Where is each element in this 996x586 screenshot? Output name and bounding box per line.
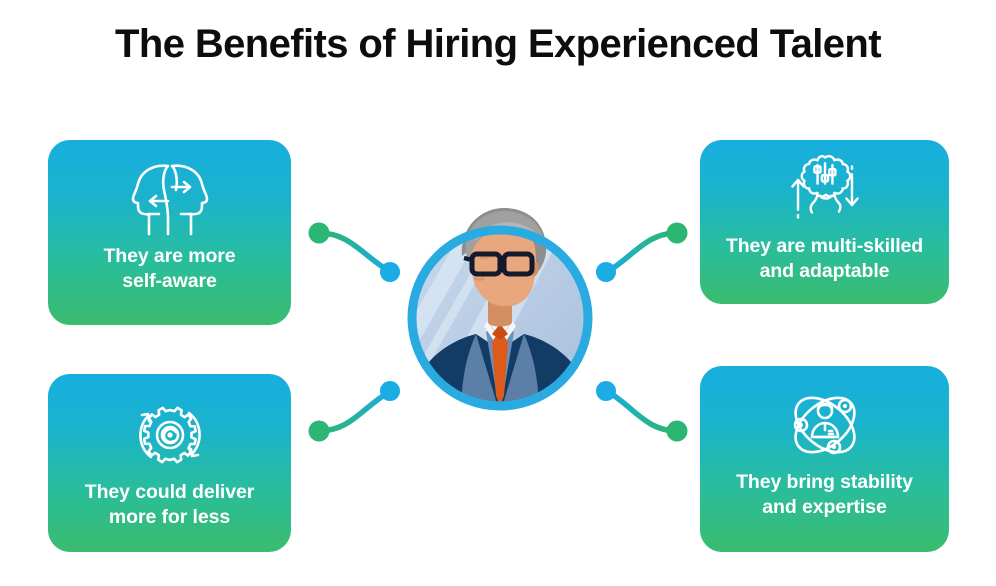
connector-dot-green bbox=[667, 223, 688, 244]
benefit-card-multi-skilled[interactable]: They are multi-skilled and adaptable bbox=[700, 140, 949, 304]
connector-dot-blue bbox=[596, 262, 616, 282]
connector-dot-green bbox=[309, 223, 330, 244]
gear-cycle-arrows-icon bbox=[124, 392, 216, 478]
connector-dot-blue bbox=[596, 381, 616, 401]
connector-top-left bbox=[300, 215, 410, 285]
connector-dot-blue bbox=[380, 381, 400, 401]
benefit-card-label: They are multi-skilled and adaptable bbox=[714, 234, 935, 284]
page-title: The Benefits of Hiring Experienced Talen… bbox=[0, 22, 996, 67]
benefit-card-deliver-more[interactable]: They could deliver more for less bbox=[48, 374, 291, 552]
benefit-card-label: They could deliver more for less bbox=[73, 480, 266, 530]
connector-bottom-right bbox=[586, 378, 696, 448]
connector-bottom-left bbox=[300, 378, 410, 448]
connector-dot-green bbox=[667, 421, 688, 442]
brain-sliders-arrows-icon bbox=[779, 152, 871, 232]
connector-line bbox=[607, 391, 677, 431]
connector-line bbox=[607, 233, 677, 272]
connector-line bbox=[319, 233, 389, 271]
benefit-card-stability-expertise[interactable]: They bring stability and expertise bbox=[700, 366, 949, 552]
connector-dot-blue bbox=[380, 262, 400, 282]
connector-line bbox=[319, 392, 389, 431]
benefit-card-label: They are more self-aware bbox=[91, 244, 247, 294]
atom-person-orbit-icon bbox=[779, 382, 871, 468]
two-heads-exchange-icon bbox=[124, 156, 216, 242]
infographic-canvas: The Benefits of Hiring Experienced Talen… bbox=[0, 0, 996, 586]
experienced-businessman-avatar bbox=[404, 200, 596, 414]
benefit-card-self-aware[interactable]: They are more self-aware bbox=[48, 140, 291, 325]
connector-dot-green bbox=[309, 421, 330, 442]
benefit-card-label: They bring stability and expertise bbox=[724, 470, 925, 520]
connector-top-right bbox=[586, 215, 696, 285]
